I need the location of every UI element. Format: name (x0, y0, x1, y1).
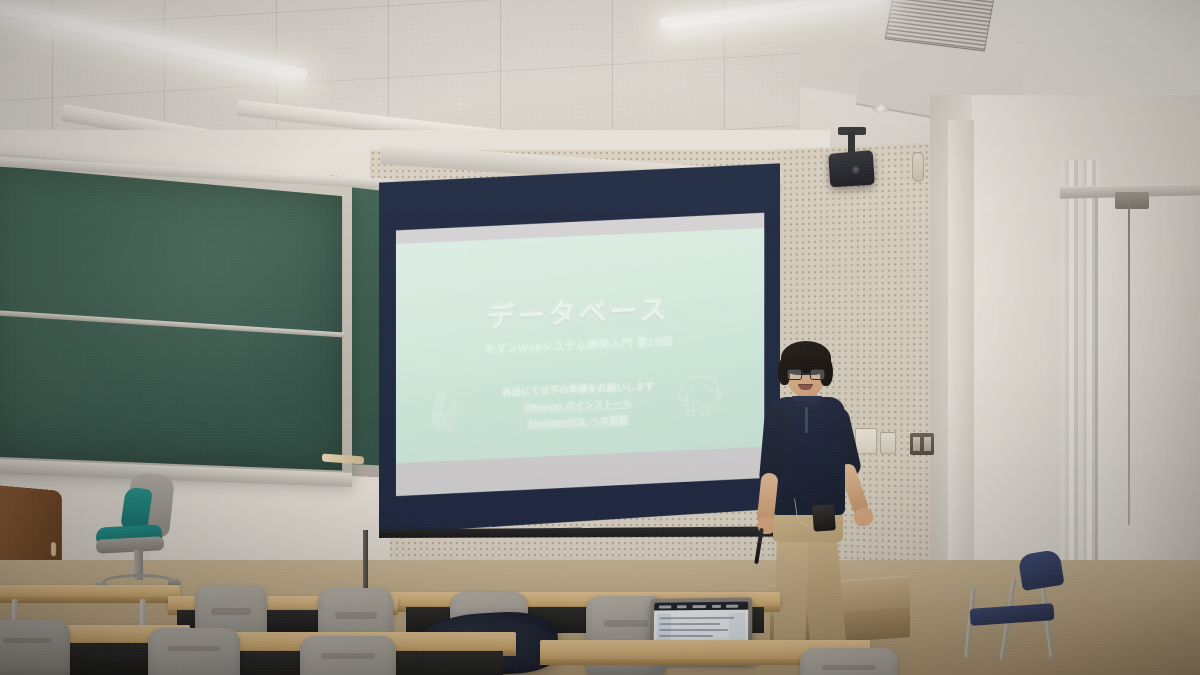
belt-clip-device (812, 504, 836, 531)
folding-chair-back (1017, 549, 1064, 591)
chair (0, 620, 70, 675)
lectern-knob (51, 542, 56, 556)
classroom-photo: データベース モダンWebシステム開発入門 第10回 https://www.s… (0, 0, 1200, 675)
slide-title: データベース (396, 282, 764, 339)
task-chair (92, 474, 188, 600)
presentation-slide: データベース モダンWebシステム開発入門 第10回 https://www.s… (396, 228, 764, 466)
laser-pointer-icon (754, 528, 764, 564)
light-switch-plate[interactable] (910, 433, 934, 455)
projection-screen: データベース モダンWebシステム開発入門 第10回 https://www.s… (379, 163, 780, 538)
chalkboard (0, 151, 352, 485)
chair (800, 648, 898, 675)
glasses-icon (787, 369, 825, 380)
sensor-icon (912, 152, 924, 182)
speaker-icon (828, 150, 875, 187)
presenter-right-hand (852, 506, 875, 528)
chair (148, 628, 240, 675)
door-cable (1128, 205, 1130, 525)
door-roller (1115, 192, 1149, 209)
folding-chair-seat (970, 603, 1055, 626)
speaker-cone (852, 166, 860, 175)
slide-notes: 各自にて以下の準備をお願いします DBeaver のインストール Elephan… (396, 374, 764, 438)
chair (300, 636, 396, 675)
wall-column (948, 120, 974, 620)
task-chair-seat-base (96, 536, 165, 554)
desk (0, 585, 180, 598)
folding-chair (962, 548, 1070, 660)
laptop-menubar (654, 602, 748, 611)
presenter-placket (805, 407, 808, 433)
